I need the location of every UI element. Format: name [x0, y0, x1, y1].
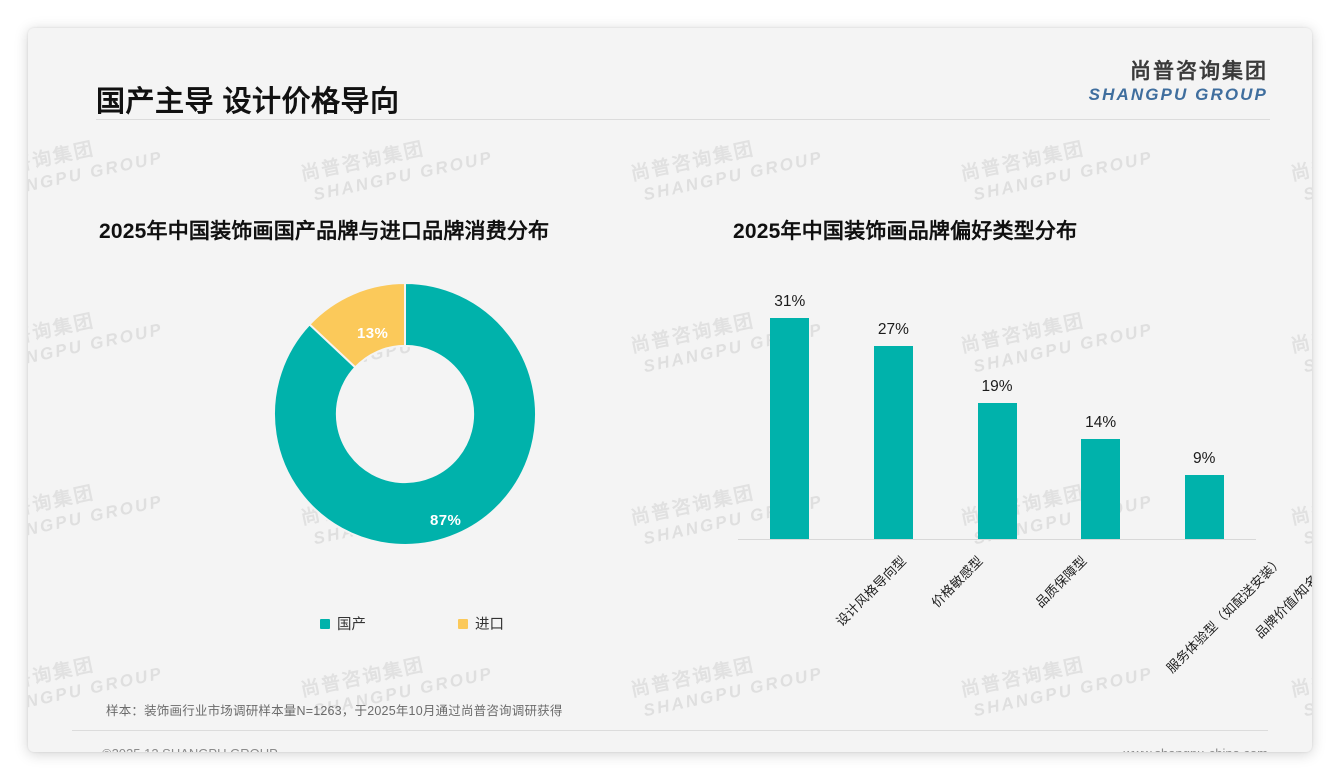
legend-label-domestic: 国产 — [337, 613, 366, 634]
watermark-en: SHANGPU GROUP — [1302, 664, 1312, 722]
donut-slice-label-domestic: 87% — [430, 512, 461, 529]
bar-价格敏感型[interactable] — [874, 346, 913, 539]
bar-服务体验型（如配送安装）[interactable] — [1081, 439, 1120, 539]
slide-header: 国产主导 设计价格导向 尚普咨询集团 SHANGPU GROUP — [28, 28, 1312, 120]
screenshot-root: 尚普咨询集团SHANGPU GROUP尚普咨询集团SHANGPU GROUP尚普… — [0, 0, 1340, 780]
bar-group: 31% — [770, 289, 809, 539]
watermark-en: SHANGPU GROUP — [642, 664, 825, 722]
brand-logo-cn: 尚普咨询集团 — [1089, 60, 1268, 84]
bar-品质保障型[interactable] — [978, 403, 1017, 539]
watermark-cn: 尚普咨询集团 — [28, 120, 161, 186]
watermark-en: SHANGPU GROUP — [1302, 148, 1312, 206]
watermark-cn: 尚普咨询集团 — [1288, 464, 1312, 530]
watermark-tile: 尚普咨询集团SHANGPU GROUP — [1288, 120, 1312, 207]
donut-chart-panel: 2025年中国装饰画国产品牌与进口品牌消费分布 13% 87% 国产 进口 — [68, 183, 688, 663]
donut-chart: 13% 87% — [274, 283, 536, 545]
bar-chart-title: 2025年中国装饰画品牌偏好类型分布 — [733, 215, 1077, 245]
bar-group: 19% — [978, 289, 1017, 539]
page-title: 国产主导 设计价格导向 — [96, 78, 400, 120]
donut-slices — [274, 283, 536, 545]
donut-slice-label-import: 13% — [357, 325, 388, 342]
bar-value-label: 31% — [774, 293, 805, 311]
legend-item-import[interactable]: 进口 — [458, 613, 504, 634]
watermark-en: SHANGPU GROUP — [972, 664, 1155, 722]
bar-group: 9% — [1185, 289, 1224, 539]
bar-plot-area: 31%27%19%14%9% — [738, 289, 1256, 539]
watermark-en: SHANGPU GROUP — [1302, 320, 1312, 378]
bar-tick-label: 设计风格导向型 — [831, 551, 910, 630]
bar-tick-label: 品质保障型 — [1030, 551, 1090, 611]
bar-tick-label: 价格敏感型 — [927, 551, 987, 611]
bar-品牌价值/知名度型[interactable] — [1185, 475, 1224, 539]
legend-label-import: 进口 — [475, 613, 504, 634]
donut-svg — [274, 283, 536, 545]
source-note: 样本：装饰画行业市场调研样本量N=1263，于2025年10月通过尚普咨询调研获… — [106, 700, 563, 719]
bar-group: 27% — [874, 289, 913, 539]
footer-divider — [72, 730, 1268, 731]
brand-logo: 尚普咨询集团 SHANGPU GROUP — [1089, 60, 1268, 104]
watermark-cn: 尚普咨询集团 — [1288, 292, 1312, 358]
bar-value-label: 19% — [981, 378, 1012, 396]
brand-logo-en: SHANGPU GROUP — [1089, 85, 1268, 104]
watermark-cn: 尚普咨询集团 — [628, 120, 821, 186]
legend-swatch-domestic — [320, 619, 330, 629]
bar-value-label: 9% — [1193, 450, 1215, 468]
bar-value-label: 27% — [878, 321, 909, 339]
watermark-en: SHANGPU GROUP — [1302, 492, 1312, 550]
watermark-tile: 尚普咨询集团SHANGPU GROUP — [1288, 636, 1312, 723]
legend-swatch-import — [458, 619, 468, 629]
watermark-cn: 尚普咨询集团 — [298, 120, 491, 186]
watermark-tile: 尚普咨询集团SHANGPU GROUP — [1288, 292, 1312, 379]
header-divider — [96, 119, 1270, 120]
watermark-cn: 尚普咨询集团 — [1288, 120, 1312, 186]
donut-legend: 国产 进口 — [208, 613, 548, 637]
footer-copyright: ©2025.12 SHANGPU GROUP — [102, 746, 278, 752]
bar-设计风格导向型[interactable] — [770, 318, 809, 539]
slide-card: 尚普咨询集团SHANGPU GROUP尚普咨询集团SHANGPU GROUP尚普… — [28, 28, 1312, 752]
bar-chart-panel: 2025年中国装饰画品牌偏好类型分布 31%27%19%14%9% 设计风格导向… — [700, 183, 1280, 663]
bar-chart: 31%27%19%14%9% 设计风格导向型价格敏感型品质保障型服务体验型（如配… — [718, 271, 1263, 651]
watermark-cn: 尚普咨询集团 — [1288, 636, 1312, 702]
legend-item-domestic[interactable]: 国产 — [320, 613, 366, 634]
bar-value-label: 14% — [1085, 414, 1116, 432]
donut-chart-title: 2025年中国装饰画国产品牌与进口品牌消费分布 — [99, 215, 549, 245]
watermark-tile: 尚普咨询集团SHANGPU GROUP — [1288, 464, 1312, 551]
watermark-cn: 尚普咨询集团 — [958, 120, 1151, 186]
bar-axis-baseline — [738, 539, 1256, 540]
bar-group: 14% — [1081, 289, 1120, 539]
footer-url[interactable]: www.shangpu-china.com — [1123, 746, 1268, 752]
